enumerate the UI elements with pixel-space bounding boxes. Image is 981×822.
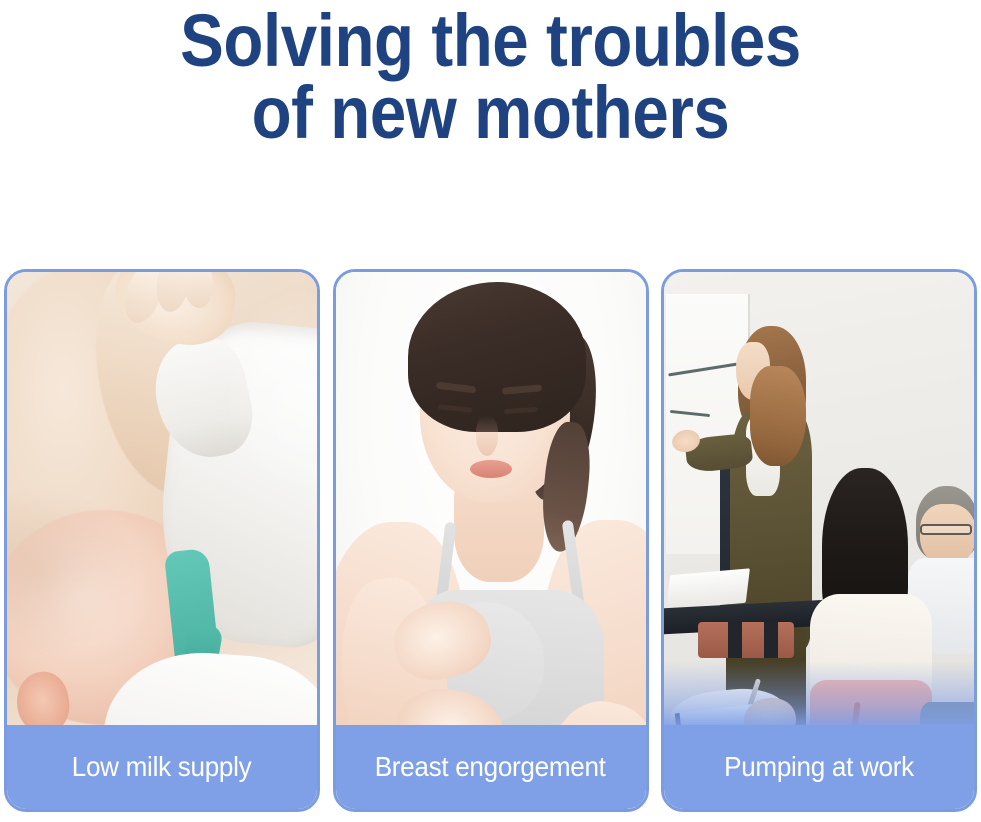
trouble-cards-row: Low milk supply [4, 269, 977, 812]
page-title-line-2: of new mothers [56, 78, 924, 148]
hair-shape [408, 282, 586, 432]
trouble-card-low-milk-supply[interactable]: Low milk supply [4, 269, 320, 812]
attendee-glasses [920, 524, 972, 535]
trouble-card-breast-engorgement[interactable]: Breast engorgement [333, 269, 649, 812]
office-meeting-photo [664, 272, 974, 725]
attendee-face-shape [920, 504, 974, 566]
chair-slot [764, 622, 778, 658]
page-title: Solving the troubles of new mothers [56, 0, 924, 147]
presenter-hair-fall-shape [750, 366, 806, 466]
photo-bottom-blue-overlay [664, 661, 974, 725]
card-caption-bar: Low milk supply [7, 725, 317, 809]
card-caption-bar: Pumping at work [664, 725, 974, 809]
chair-slot [728, 622, 742, 658]
lips-shape [470, 460, 512, 478]
woman-checking-breast-photo [336, 272, 646, 725]
card-caption-label: Pumping at work [724, 751, 914, 783]
page-title-line-1: Solving the troubles [56, 6, 924, 76]
photo-shading-overlay [7, 272, 317, 725]
trouble-card-pumping-at-work[interactable]: Pumping at work [661, 269, 977, 812]
chair-back [698, 622, 794, 658]
nose-shape [476, 416, 498, 456]
card-caption-label: Breast engorgement [375, 751, 606, 783]
card-caption-bar: Breast engorgement [336, 725, 646, 809]
card-caption-label: Low milk supply [72, 751, 252, 783]
mother-breastfeeding-baby-photo [7, 272, 317, 725]
